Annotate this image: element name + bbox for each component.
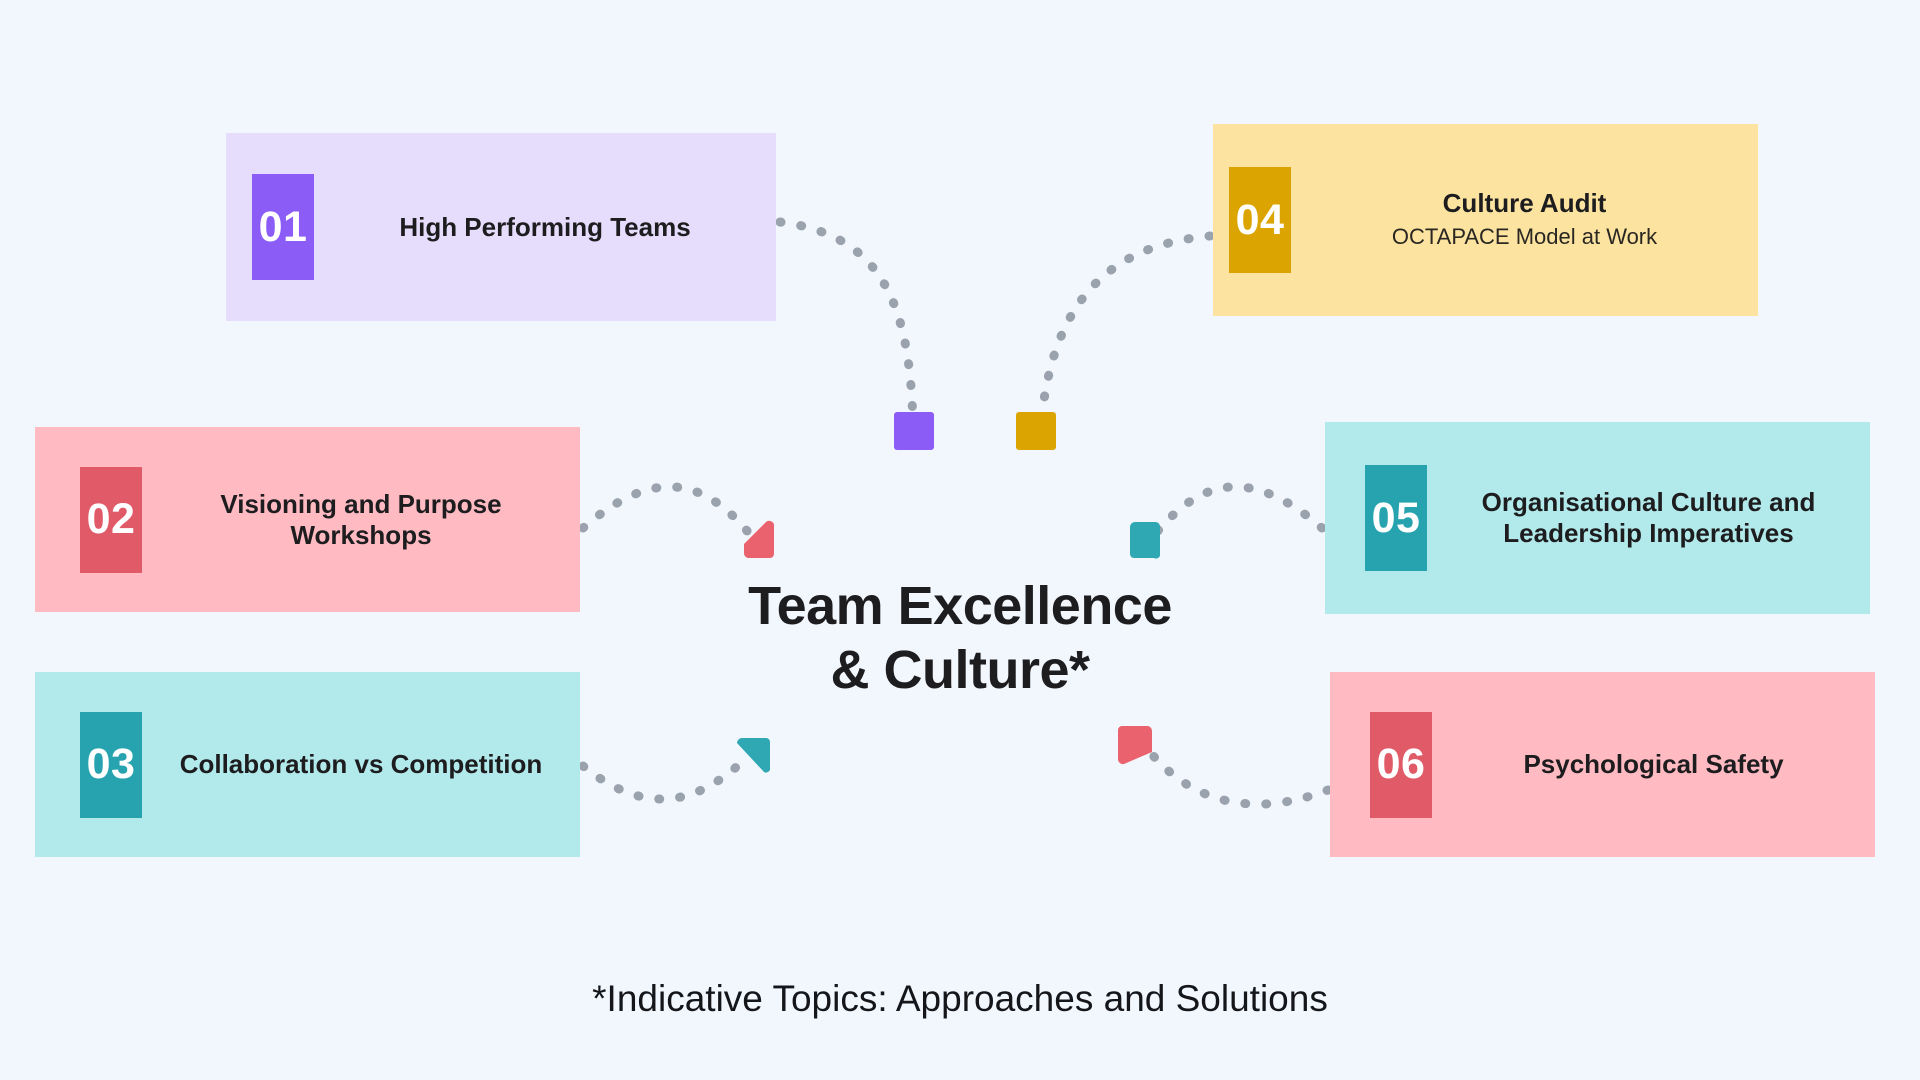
card-number-badge-02: 02	[80, 467, 142, 573]
center-title-line-2: & Culture*	[640, 639, 1280, 703]
card-text-04: Culture Audit OCTAPACE Model at Work	[1291, 188, 1758, 251]
card-text-03: Collaboration vs Competition	[142, 749, 580, 780]
card-number-badge-01: 01	[252, 174, 314, 280]
center-title-line-1: Team Excellence	[640, 575, 1280, 639]
connector-marker-04	[1016, 412, 1062, 458]
connector-path-02	[583, 487, 748, 532]
card-number-badge-06: 06	[1370, 712, 1432, 818]
card-number-badge-03: 03	[80, 712, 142, 818]
card-title-02: Visioning and Purpose Workshops	[152, 489, 570, 550]
card-text-01: High Performing Teams	[314, 212, 776, 243]
card-title-05: Organisational Culture and Leadership Im…	[1437, 487, 1860, 548]
card-text-02: Visioning and Purpose Workshops	[142, 489, 580, 550]
topic-card-02[interactable]: 02 Visioning and Purpose Workshops	[35, 427, 580, 612]
card-text-05: Organisational Culture and Leadership Im…	[1427, 487, 1870, 548]
card-title-03: Collaboration vs Competition	[152, 749, 570, 780]
connector-path-06	[1150, 752, 1328, 804]
center-title: Team Excellence & Culture*	[640, 575, 1280, 702]
connector-path-04	[1041, 236, 1210, 425]
card-title-01: High Performing Teams	[324, 212, 766, 243]
topic-card-06[interactable]: 06 Psychological Safety	[1330, 672, 1875, 857]
connector-marker-02	[734, 514, 786, 566]
topic-card-03[interactable]: 03 Collaboration vs Competition	[35, 672, 580, 857]
card-subtitle-04: OCTAPACE Model at Work	[1301, 223, 1748, 252]
connector-marker-03	[728, 730, 780, 782]
card-title-04: Culture Audit	[1301, 188, 1748, 219]
connector-path-05	[1157, 487, 1322, 532]
card-number-badge-05: 05	[1365, 465, 1427, 571]
footnote-text: *Indicative Topics: Approaches and Solut…	[0, 978, 1920, 1020]
card-number-badge-04: 04	[1229, 167, 1291, 273]
infographic-canvas: 01 High Performing Teams 02 Visioning an…	[0, 0, 1920, 1080]
connector-path-01	[780, 222, 913, 425]
connector-marker-06	[1110, 718, 1162, 770]
connector-marker-01	[894, 412, 940, 458]
topic-card-04[interactable]: 04 Culture Audit OCTAPACE Model at Work	[1213, 124, 1758, 316]
connector-path-03	[583, 762, 742, 799]
card-title-06: Psychological Safety	[1442, 749, 1865, 780]
card-text-06: Psychological Safety	[1432, 749, 1875, 780]
topic-card-05[interactable]: 05 Organisational Culture and Leadership…	[1325, 422, 1870, 614]
topic-card-01[interactable]: 01 High Performing Teams	[226, 133, 776, 321]
connector-marker-05	[1122, 514, 1174, 566]
